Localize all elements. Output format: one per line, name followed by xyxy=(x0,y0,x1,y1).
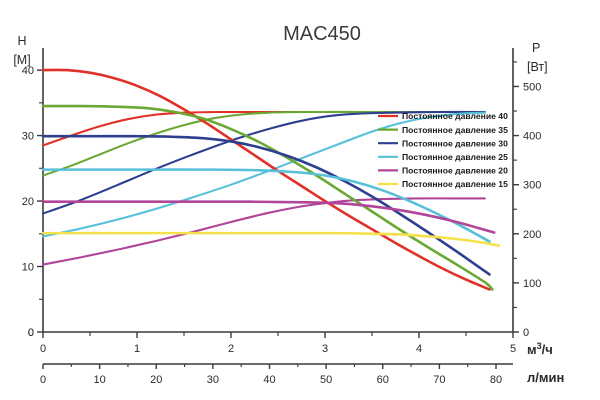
legend-label: Постоянное давление 30 xyxy=(402,138,508,148)
y-axis-right-title: P xyxy=(532,41,540,55)
x-tick-label-secondary: 30 xyxy=(207,374,219,386)
x-tick-label-primary: 2 xyxy=(228,343,234,355)
legend-label: Постоянное давление 25 xyxy=(402,152,508,162)
x-tick-label-primary: 4 xyxy=(416,343,422,355)
y-tick-label-left: 20 xyxy=(22,196,34,208)
x-axis-unit-primary: м3/ч xyxy=(527,341,553,357)
chart-title: MAC450 xyxy=(283,23,361,45)
y-tick-label-right: 100 xyxy=(523,278,541,290)
y-tick-label-right: 300 xyxy=(523,180,541,192)
legend-label: Постоянное давление 20 xyxy=(402,166,508,176)
x-tick-label-secondary: 20 xyxy=(150,374,162,386)
x-tick-label-secondary: 50 xyxy=(320,374,332,386)
y-axis-left-title: H xyxy=(17,34,26,48)
y-axis-left-unit: [M] xyxy=(13,53,30,67)
y-axis-right-unit: [Вт] xyxy=(527,60,548,74)
pump-curve-chart: 0102030400100200300400500012345010203040… xyxy=(0,0,600,400)
x-tick-label-secondary: 10 xyxy=(94,374,106,386)
legend-label: Постоянное давление 15 xyxy=(402,179,508,189)
x-tick-label-primary: 3 xyxy=(322,343,328,355)
x-tick-label-secondary: 0 xyxy=(40,374,46,386)
y-tick-label-right: 0 xyxy=(523,327,529,339)
head-curve xyxy=(43,202,494,233)
y-tick-label-left: 10 xyxy=(22,262,34,274)
legend-label: Постоянное давление 40 xyxy=(402,111,508,121)
x-tick-label-primary: 1 xyxy=(134,343,140,355)
x-tick-label-primary: 5 xyxy=(510,343,516,355)
legend-label: Постоянное давление 35 xyxy=(402,125,508,135)
y-tick-label-right: 200 xyxy=(523,229,541,241)
x-tick-label-secondary: 80 xyxy=(490,374,502,386)
y-tick-label-left: 30 xyxy=(22,131,34,143)
y-tick-label-right: 400 xyxy=(523,131,541,143)
chart-container: 0102030400100200300400500012345010203040… xyxy=(0,0,600,400)
y-tick-label-right: 500 xyxy=(523,81,541,93)
x-tick-label-secondary: 40 xyxy=(263,374,275,386)
x-tick-label-secondary: 60 xyxy=(377,374,389,386)
y-zero-left: 0 xyxy=(28,327,34,339)
x-tick-label-secondary: 70 xyxy=(433,374,445,386)
x-axis-unit-secondary: л/мин xyxy=(527,370,564,385)
x-tick-label-primary: 0 xyxy=(40,343,46,355)
